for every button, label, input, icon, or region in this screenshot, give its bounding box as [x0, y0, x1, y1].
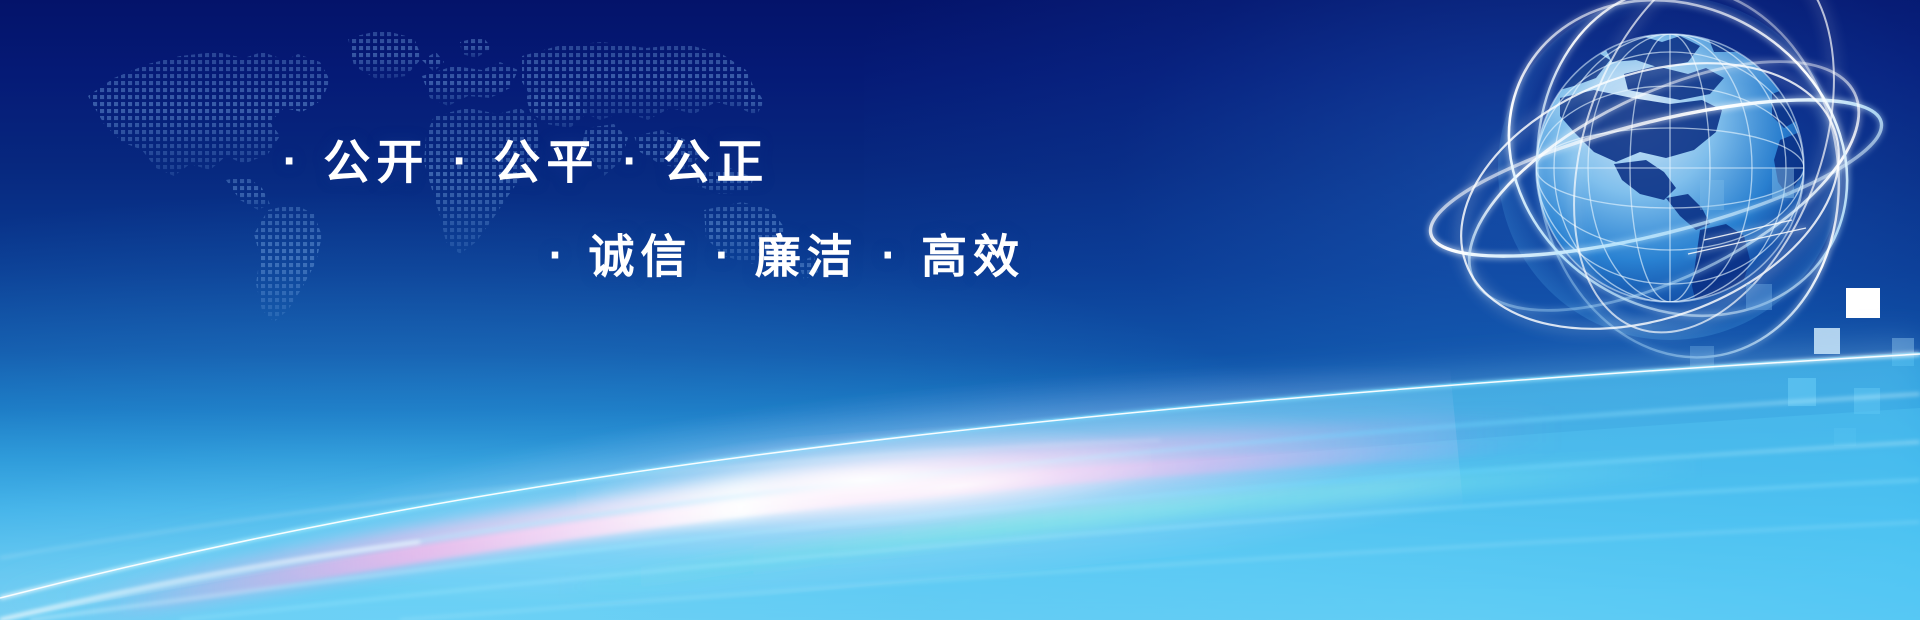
dotted-world-map: [30, 4, 820, 324]
background-glow-right: [864, 0, 1920, 589]
headline-line-1: · 公开 · 公平 · 公正: [0, 132, 1060, 193]
pixel-squares: [1500, 250, 1920, 430]
promotional-banner: · 公开 · 公平 · 公正 · 诚信 · 廉洁 · 高效: [0, 0, 1920, 620]
square-pale-9: [1834, 428, 1856, 446]
bullet-separator: ·: [622, 139, 641, 183]
bullet-separator: ·: [282, 139, 301, 183]
headline-word-gaoxiao: 高效: [921, 229, 1025, 283]
background-glow-left: [0, 186, 1498, 620]
headline-word-gongzheng: 公正: [663, 136, 769, 191]
bullet-separator: ·: [881, 234, 899, 277]
square-white-lg: [1846, 288, 1880, 318]
square-pale-3: [1854, 388, 1880, 414]
headline-block: · 公开 · 公平 · 公正 · 诚信 · 廉洁 · 高效: [0, 132, 1060, 285]
bullet-separator: ·: [714, 234, 732, 277]
square-pale-6: [1690, 346, 1714, 370]
headline-word-lianjie: 廉洁: [755, 229, 859, 283]
square-pale-7: [1772, 168, 1794, 198]
light-wave-ribbon: [0, 290, 1920, 620]
headline-word-gongkai: 公开: [323, 136, 429, 191]
pink-light-hotspot: [573, 412, 1154, 548]
pink-light-glow: [262, 339, 1465, 620]
headline-word-chengxin: 诚信: [588, 229, 692, 283]
square-pale-4: [1892, 338, 1914, 366]
square-pale-1: [1814, 328, 1840, 354]
headline-line-2: · 诚信 · 廉洁 · 高效: [0, 227, 1060, 285]
square-pale-5: [1746, 284, 1772, 310]
square-pale-8: [1700, 180, 1724, 210]
headline-word-gongping: 公平: [493, 136, 599, 191]
bullet-separator: ·: [548, 234, 566, 277]
bullet-separator: ·: [452, 139, 471, 183]
square-pale-2: [1788, 378, 1816, 406]
wireframe-globe: [1388, 0, 1858, 412]
